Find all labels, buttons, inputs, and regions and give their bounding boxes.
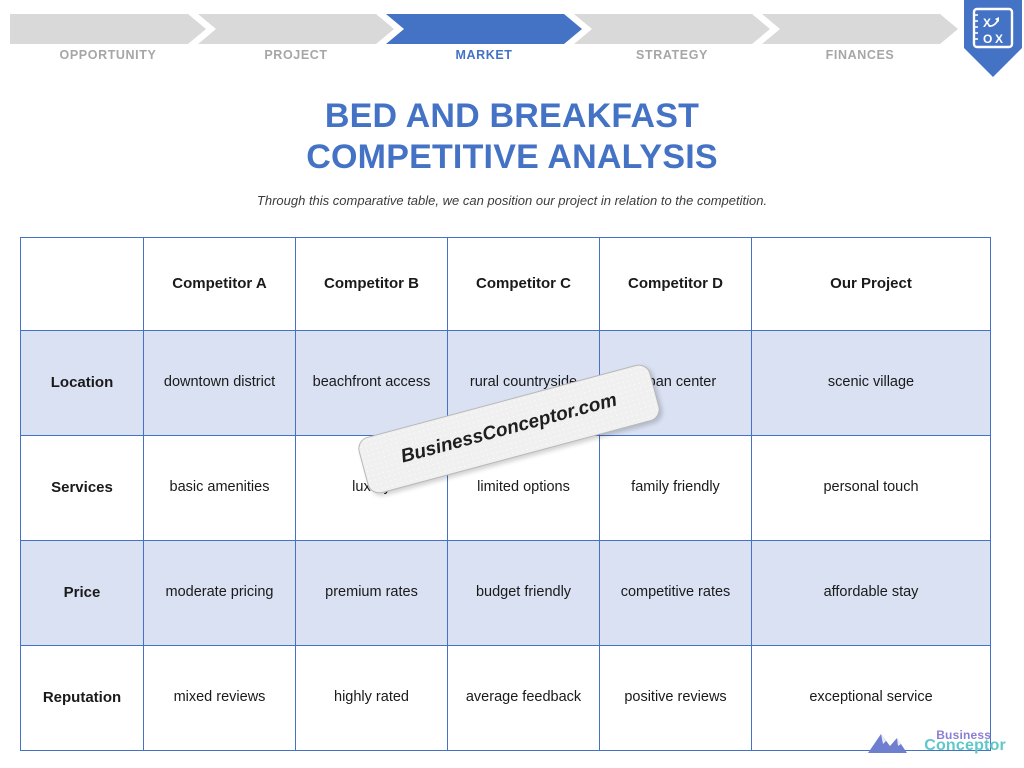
cell-services-our-project: personal touch	[752, 436, 991, 541]
cell-price-competitor-b: premium rates	[296, 541, 448, 646]
strategy-board-icon: X O X	[962, 0, 1024, 78]
nav-label-strategy[interactable]: STRATEGY	[574, 46, 770, 64]
cell-location-our-project: scenic village	[752, 331, 991, 436]
table-header-competitor-b: Competitor B	[296, 238, 448, 331]
nav-chevron-opportunity[interactable]	[10, 14, 206, 44]
table-header-competitor-a: Competitor A	[144, 238, 296, 331]
nav-chevron-market[interactable]	[386, 14, 582, 44]
svg-text:X: X	[995, 32, 1003, 46]
table-header-competitor-d: Competitor D	[600, 238, 752, 331]
table-row: Price moderate pricing premium rates bud…	[21, 541, 991, 646]
page-subtitle: Through this comparative table, we can p…	[0, 193, 1024, 208]
cell-price-our-project: affordable stay	[752, 541, 991, 646]
table-header-row: Competitor A Competitor B Competitor C C…	[21, 238, 991, 331]
competitive-analysis-table: Competitor A Competitor B Competitor C C…	[20, 237, 991, 751]
logo-wordmark: Business Conceptor	[924, 729, 1006, 754]
nav-label-opportunity[interactable]: OPPORTUNITY	[10, 46, 206, 64]
stage-navigation-bar: OPPORTUNITY PROJECT MARKET STRATEGY FINA…	[0, 0, 1024, 80]
cell-price-competitor-d: competitive rates	[600, 541, 752, 646]
cell-reputation-competitor-a: mixed reviews	[144, 646, 296, 751]
svg-text:X: X	[983, 16, 991, 30]
nav-chevron-finances[interactable]	[762, 14, 958, 44]
row-label-price: Price	[21, 541, 144, 646]
nav-label-project[interactable]: PROJECT	[198, 46, 394, 64]
page-title-line-2: COMPETITIVE ANALYSIS	[0, 137, 1024, 178]
page-title-line-1: BED AND BREAKFAST	[0, 96, 1024, 137]
cell-services-competitor-d: family friendly	[600, 436, 752, 541]
row-label-services: Services	[21, 436, 144, 541]
mountain-icon	[866, 726, 922, 756]
page-title: BED AND BREAKFAST COMPETITIVE ANALYSIS	[0, 96, 1024, 179]
cell-services-competitor-a: basic amenities	[144, 436, 296, 541]
nav-chevron-project[interactable]	[198, 14, 394, 44]
table-row: Reputation mixed reviews highly rated av…	[21, 646, 991, 751]
table-header-our-project: Our Project	[752, 238, 991, 331]
cell-price-competitor-a: moderate pricing	[144, 541, 296, 646]
cell-price-competitor-c: budget friendly	[448, 541, 600, 646]
cell-location-competitor-b: beachfront access	[296, 331, 448, 436]
row-label-reputation: Reputation	[21, 646, 144, 751]
nav-label-finances[interactable]: FINANCES	[762, 46, 958, 64]
row-label-location: Location	[21, 331, 144, 436]
footer-logo: Business Conceptor	[866, 724, 1006, 758]
cell-location-competitor-a: downtown district	[144, 331, 296, 436]
table-header-competitor-c: Competitor C	[448, 238, 600, 331]
svg-text:O: O	[983, 32, 992, 46]
nav-label-market[interactable]: MARKET	[386, 46, 582, 64]
nav-chevron-strategy[interactable]	[574, 14, 770, 44]
cell-reputation-competitor-b: highly rated	[296, 646, 448, 751]
cell-reputation-competitor-d: positive reviews	[600, 646, 752, 751]
title-block: BED AND BREAKFAST COMPETITIVE ANALYSIS T…	[0, 96, 1024, 208]
cell-reputation-competitor-c: average feedback	[448, 646, 600, 751]
table-corner-cell	[21, 238, 144, 331]
logo-word-conceptor: Conceptor	[924, 738, 1006, 754]
